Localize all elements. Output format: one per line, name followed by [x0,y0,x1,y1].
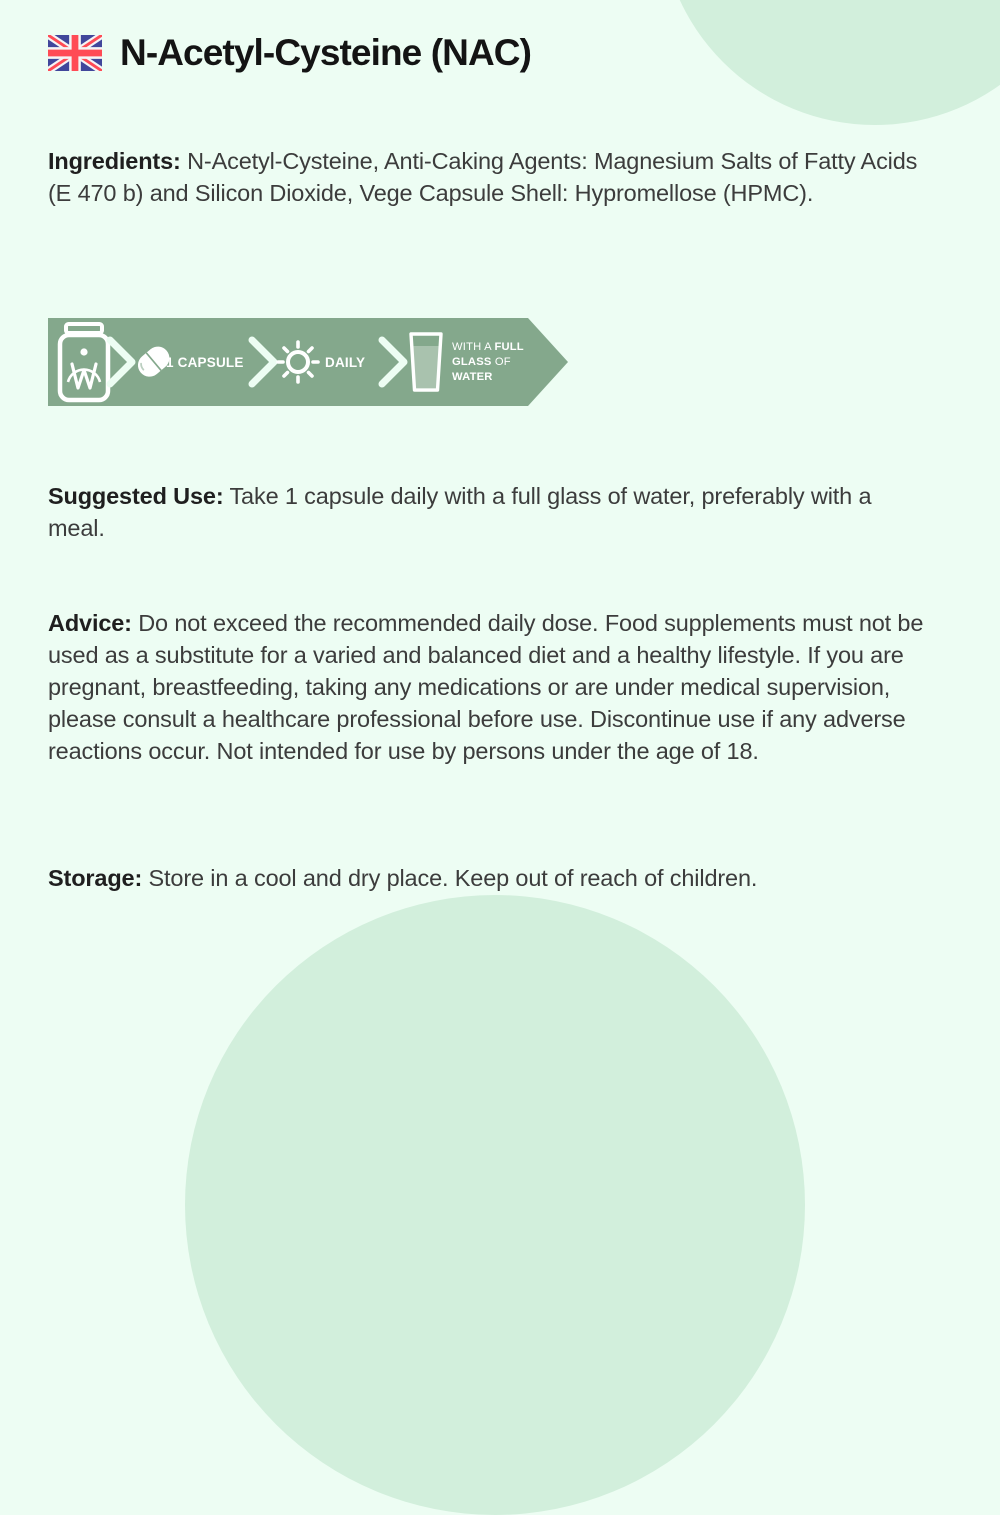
water-line-2-regular: OF [492,356,511,368]
background-circle-bottom [185,895,805,1515]
water-line-3-bold: WATER [452,371,493,383]
suggested-use-section: Suggested Use: Take 1 capsule daily with… [48,480,878,544]
storage-section: Storage: Store in a cool and dry place. … [48,862,878,894]
advice-label: Advice: [48,610,132,636]
svg-text:WITH A FULL: WITH A FULL [452,341,524,353]
svg-text:GLASS OF: GLASS OF [452,356,511,368]
segment-label-capsule: 1 CAPSULE [166,355,244,370]
advice-text: Do not exceed the recommended daily dose… [48,610,923,764]
advice-section: Advice: Do not exceed the recommended da… [48,607,933,767]
water-line-2-bold: GLASS [452,356,492,368]
ingredients-label: Ingredients: [48,148,181,174]
directions-banner: 1 CAPSULE DAILY [48,318,568,406]
uk-flag-icon [48,35,102,71]
suggested-use-label: Suggested Use: [48,483,224,509]
ingredients-section: Ingredients: N-Acetyl-Cysteine, Anti-Cak… [48,145,918,209]
page-header: N-Acetyl-Cysteine (NAC) [48,32,531,74]
water-line-1-bold: FULL [494,341,523,353]
storage-text: Store in a cool and dry place. Keep out … [142,865,757,891]
svg-text:WATER: WATER [452,371,493,383]
background-circle-top-right [660,0,1000,125]
page-title: N-Acetyl-Cysteine (NAC) [120,32,531,74]
storage-label: Storage: [48,865,142,891]
water-line-1-regular: WITH A [452,341,494,353]
segment-label-daily: DAILY [325,355,365,370]
